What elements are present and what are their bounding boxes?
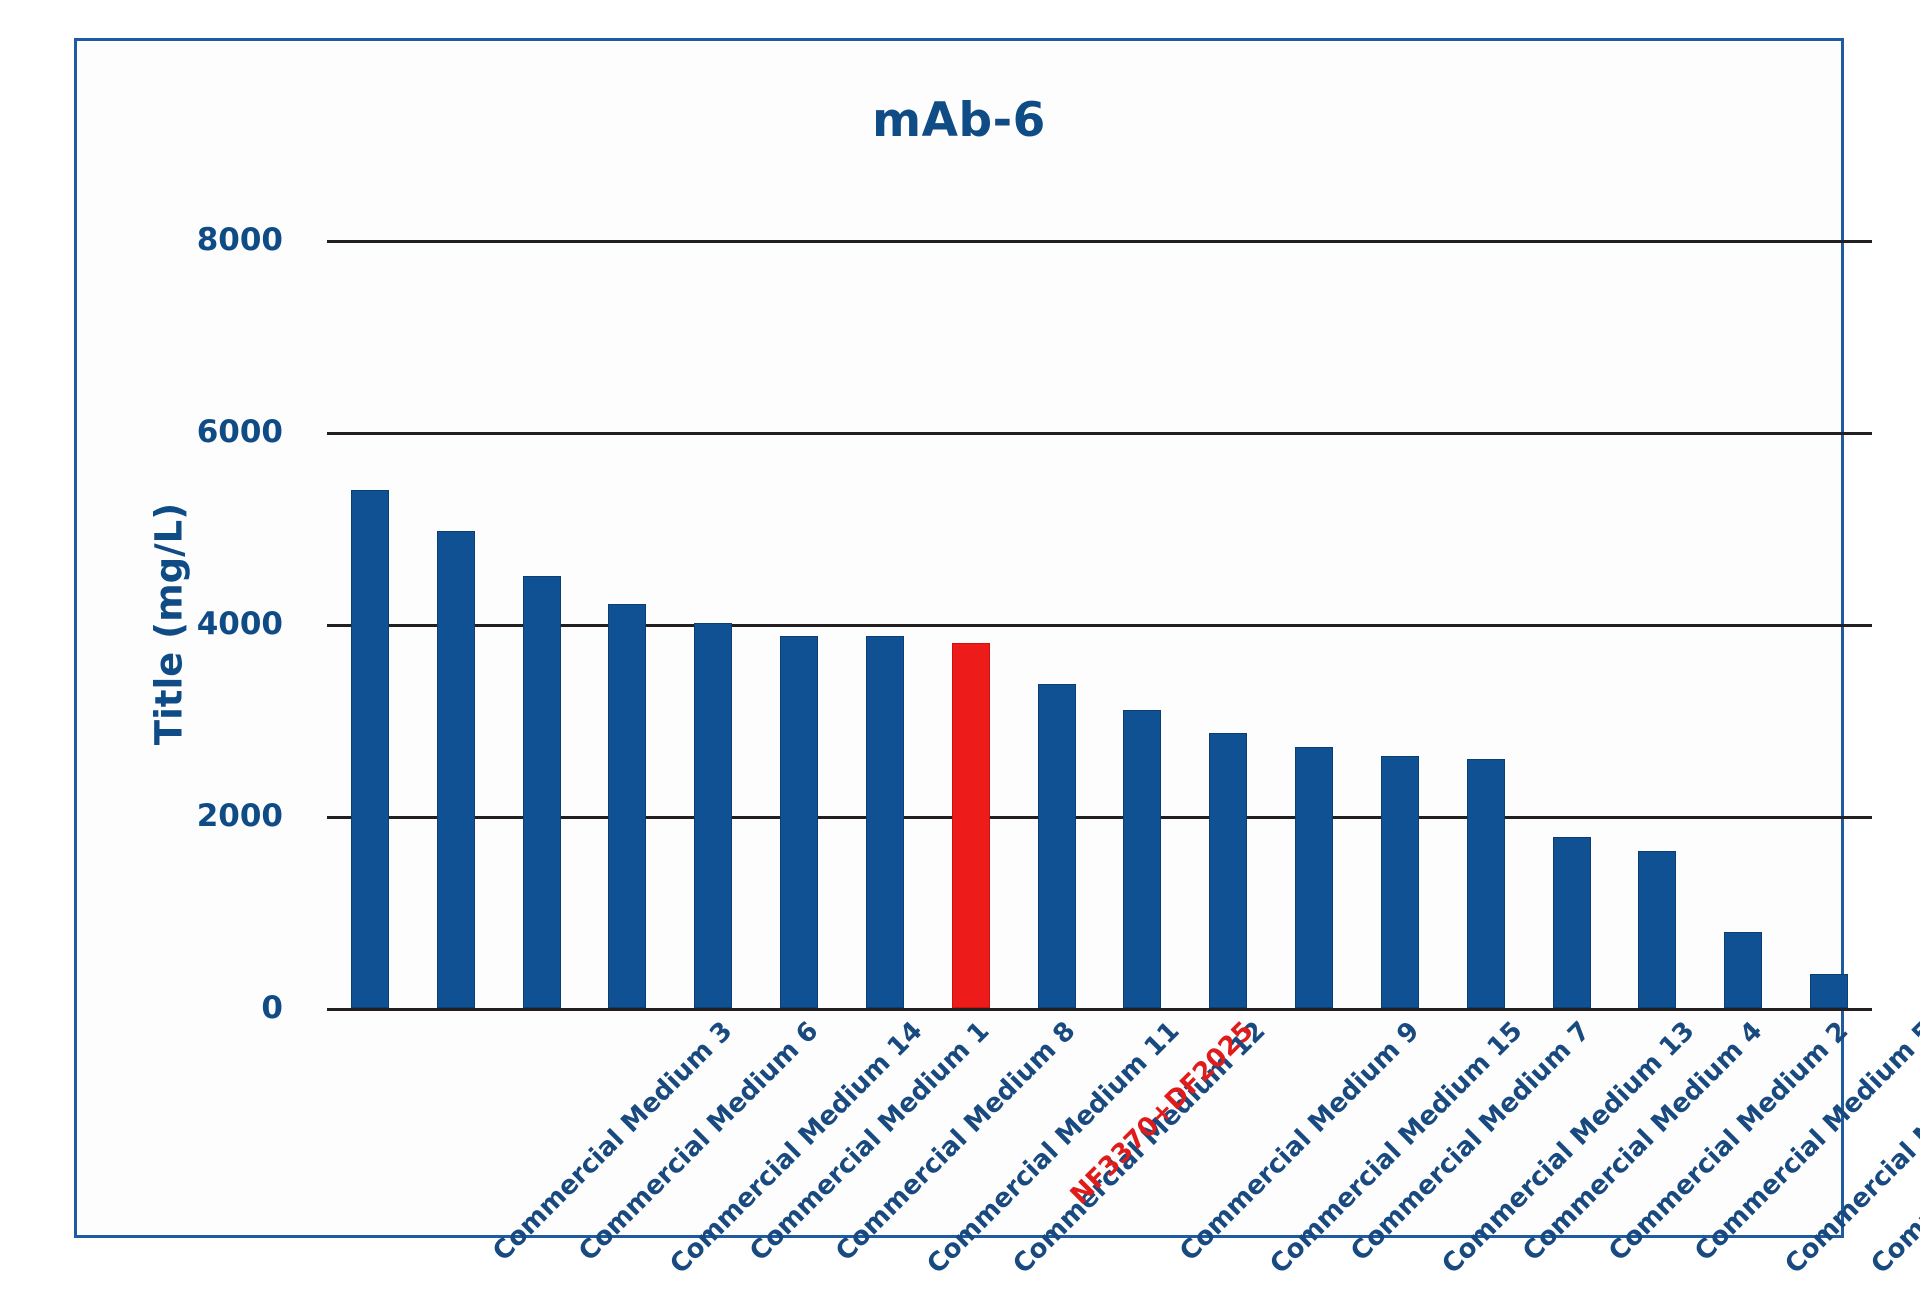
y-axis-title: Title (mg/L) <box>148 503 191 745</box>
bar-series <box>327 240 1872 1008</box>
chart-page: mAb-6 Title (mg/L) 80006000400020000 Com… <box>0 0 1920 1280</box>
bar[interactable] <box>694 623 732 1008</box>
plot-area: 80006000400020000 <box>327 240 1872 1008</box>
y-tick-label: 0 <box>261 990 283 1026</box>
bar[interactable] <box>1467 759 1505 1008</box>
bar[interactable] <box>437 531 475 1008</box>
bar[interactable] <box>1295 747 1333 1008</box>
bar[interactable] <box>1810 974 1848 1008</box>
bar[interactable] <box>351 490 389 1008</box>
bar[interactable] <box>608 604 646 1008</box>
gridline <box>327 1008 1872 1011</box>
bar[interactable] <box>1381 756 1419 1008</box>
y-tick-label: 4000 <box>197 606 283 642</box>
bar[interactable] <box>952 643 990 1008</box>
chart-frame: mAb-6 Title (mg/L) 80006000400020000 Com… <box>74 38 1844 1238</box>
bar[interactable] <box>1038 684 1076 1008</box>
bar[interactable] <box>1724 932 1762 1008</box>
bar[interactable] <box>1209 733 1247 1008</box>
chart-title: mAb-6 <box>77 93 1841 148</box>
bar[interactable] <box>523 576 561 1008</box>
x-axis-tick-labels: Commercial Medium 3Commercial Medium 6Co… <box>327 1016 1872 1306</box>
y-tick-label: 6000 <box>197 414 283 450</box>
bar[interactable] <box>780 636 818 1008</box>
y-tick-label: 8000 <box>197 222 283 258</box>
bar[interactable] <box>1123 710 1161 1008</box>
bar[interactable] <box>866 636 904 1008</box>
bar[interactable] <box>1638 851 1676 1008</box>
y-tick-label: 2000 <box>197 798 283 834</box>
bar[interactable] <box>1553 837 1591 1008</box>
